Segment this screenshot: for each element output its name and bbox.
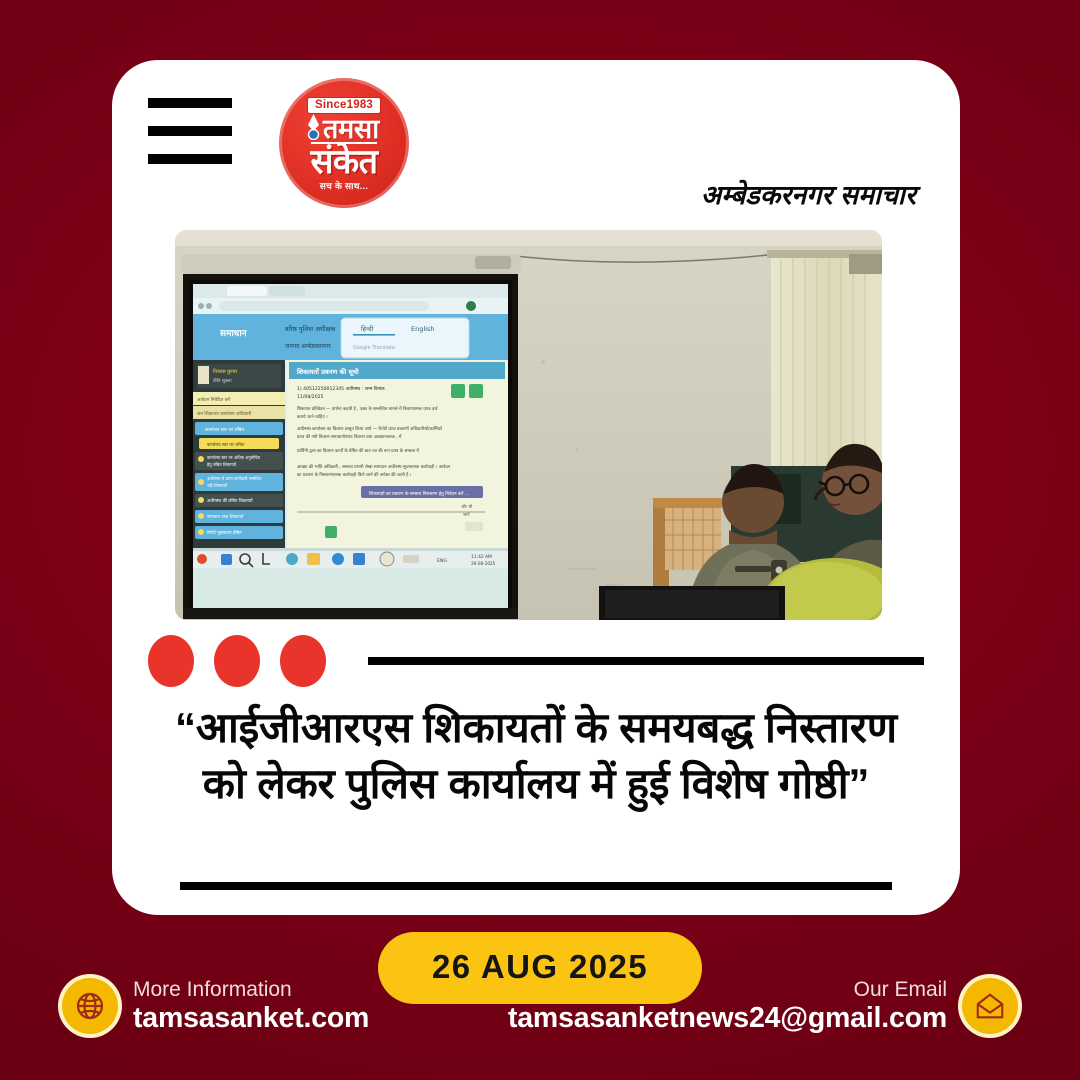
logo-word-sanket: संकेत bbox=[311, 142, 378, 179]
decor-dot bbox=[214, 635, 260, 687]
footer-email[interactable]: Our Email tamsasanketnews24@gmail.com bbox=[508, 978, 1018, 1034]
svg-text:नहीं शिकायतें: नहीं शिकायतें bbox=[207, 483, 228, 488]
svg-text:जनपद अम्बेडकरनगर: जनपद अम्बेडकरनगर bbox=[285, 342, 331, 350]
svg-text:1) 40512250012345 अधीनस्थ : जन: 1) 40512250012345 अधीनस्थ : जन्म दिनांक bbox=[297, 385, 385, 392]
svg-text:अधीनस्थ में प्राप्त कार्यवाही: अधीनस्थ में प्राप्त कार्यवाही सम्बंधित bbox=[207, 476, 262, 481]
svg-text:आख्या की भांति अधिकारी , सम्बन: आख्या की भांति अधिकारी , सम्बन्ध प्रभारी… bbox=[297, 464, 451, 470]
email-label: Our Email bbox=[508, 979, 947, 1001]
photo-illustration: समाधान वरिष्ठ पुलिस अधीक्षक जनपद अम्बेडक… bbox=[175, 230, 882, 620]
hamburger-bar bbox=[148, 154, 232, 164]
svg-text:शिकायतों का प्रकरण के सम्बन्ध: शिकायतों का प्रकरण के सम्बन्ध निस्तारण ह… bbox=[369, 490, 469, 497]
svg-text:हिन्दी: हिन्दी bbox=[361, 325, 374, 333]
svg-text:अधीनस्थ की लंबित शिकायतें: अधीनस्थ की लंबित शिकायतें bbox=[207, 498, 253, 504]
section-kicker: अम्बेडकरनगर समाचार bbox=[701, 176, 916, 212]
svg-text:प्रीति शुक्ला: प्रीति शुक्ला bbox=[213, 377, 232, 384]
svg-text:जन शिकायत कार्यालय अधिकारी: जन शिकायत कार्यालय अधिकारी bbox=[197, 410, 252, 417]
globe-icon bbox=[62, 978, 118, 1034]
poster-header: Since1983 तमसा संकेत सच के साथ... अम्बेड… bbox=[112, 60, 960, 232]
svg-text:समाधान: समाधान bbox=[219, 329, 248, 339]
website-text-block: More Information tamsasanket.com bbox=[133, 979, 369, 1033]
svg-text:ENG: ENG bbox=[437, 558, 447, 564]
news-photo: समाधान वरिष्ठ पुलिस अधीक्षक जनपद अम्बेडक… bbox=[175, 230, 882, 620]
svg-text:विकास कुमार: विकास कुमार bbox=[213, 368, 238, 375]
decorative-divider-top bbox=[148, 632, 924, 690]
logo-word-tamsa: तमसा bbox=[309, 116, 379, 143]
svg-text:आवेदन निवेदित करें: आवेदन निवेदित करें bbox=[197, 396, 230, 403]
svg-text:11/08/2025: 11/08/2025 bbox=[297, 394, 324, 400]
svg-text:अधीनस्थ कार्यालय का विवरण प्रस: अधीनस्थ कार्यालय का विवरण प्रस्तुत किया … bbox=[297, 426, 443, 432]
footer-website[interactable]: More Information tamsasanket.com bbox=[62, 978, 369, 1034]
headline: “आईजीआरएस शिकायतों के समयबद्ध निस्तारण क… bbox=[152, 700, 920, 813]
svg-text:का प्रकरण के निस्तारणात्मक कार: का प्रकरण के निस्तारणात्मक कार्यवाही किय… bbox=[297, 472, 412, 478]
svg-text:11:42 AM: 11:42 AM bbox=[471, 554, 492, 560]
svg-text:प्राप्त की गयी विवरण समाधानोपर: प्राप्त की गयी विवरण समाधानोपरांत विवरण … bbox=[297, 434, 402, 440]
divider-line bbox=[368, 657, 924, 665]
svg-text:Google Translate: Google Translate bbox=[353, 345, 395, 351]
content-card: Since1983 तमसा संकेत सच के साथ... अम्बेड… bbox=[112, 60, 960, 915]
news-poster: Since1983 तमसा संकेत सच के साथ... अम्बेड… bbox=[0, 0, 1080, 1080]
hamburger-bar bbox=[148, 126, 232, 136]
svg-text:शिकायत प्रतिवेदन — प्रार्थना क: शिकायत प्रतिवेदन — प्रार्थना कहती है , उ… bbox=[297, 406, 438, 412]
svg-text:समाधान उच्च शिकायतें: समाधान उच्च शिकायतें bbox=[207, 514, 244, 520]
logo-since-badge: Since1983 bbox=[307, 97, 381, 114]
decor-dot bbox=[148, 635, 194, 687]
svg-text:जानें: जानें bbox=[463, 512, 470, 517]
envelope-icon bbox=[962, 978, 1018, 1034]
decor-dot bbox=[280, 635, 326, 687]
svg-text:English: English bbox=[411, 325, 434, 333]
email-value: tamsasanketnews24@gmail.com bbox=[508, 1004, 947, 1034]
brand-logo[interactable]: Since1983 तमसा संकेत सच के साथ... bbox=[279, 78, 409, 208]
svg-text:कार्यालय स्तर पर लंबित: कार्यालय स्तर पर लंबित bbox=[207, 442, 245, 448]
logo-word1-text: तमसा bbox=[323, 114, 379, 144]
email-text-block: Our Email tamsasanketnews24@gmail.com bbox=[508, 979, 947, 1033]
svg-text:कार्यालय स्तर पर लंबित: कार्यालय स्तर पर लंबित bbox=[205, 426, 244, 433]
hamburger-bar bbox=[148, 98, 232, 108]
svg-text:प्रार्थिनी द्वारा का विवरण कार: प्रार्थिनी द्वारा का विवरण कार्यों के प्… bbox=[297, 448, 419, 454]
svg-text:वरिष्ठ पुलिस अधीक्षक: वरिष्ठ पुलिस अधीक्षक bbox=[285, 325, 336, 333]
svg-text:26-08-2025: 26-08-2025 bbox=[471, 561, 496, 566]
website-label: More Information bbox=[133, 979, 369, 1001]
svg-text:और भी: और भी bbox=[461, 504, 473, 509]
svg-text:कराये जाने चाहिए ।: कराये जाने चाहिए । bbox=[297, 414, 328, 420]
divider-line-bottom bbox=[180, 882, 892, 890]
svg-text:रिपोर्ट मुख्यालय प्रेषित: रिपोर्ट मुख्यालय प्रेषित bbox=[207, 530, 242, 536]
svg-text:शिकायतों प्रकरण की सूची: शिकायतों प्रकरण की सूची bbox=[296, 368, 359, 376]
logo-tagline: सच के साथ... bbox=[320, 182, 368, 191]
pen-nib-icon bbox=[305, 114, 322, 140]
website-value: tamsasanket.com bbox=[133, 1004, 369, 1034]
hamburger-icon[interactable] bbox=[148, 98, 232, 164]
